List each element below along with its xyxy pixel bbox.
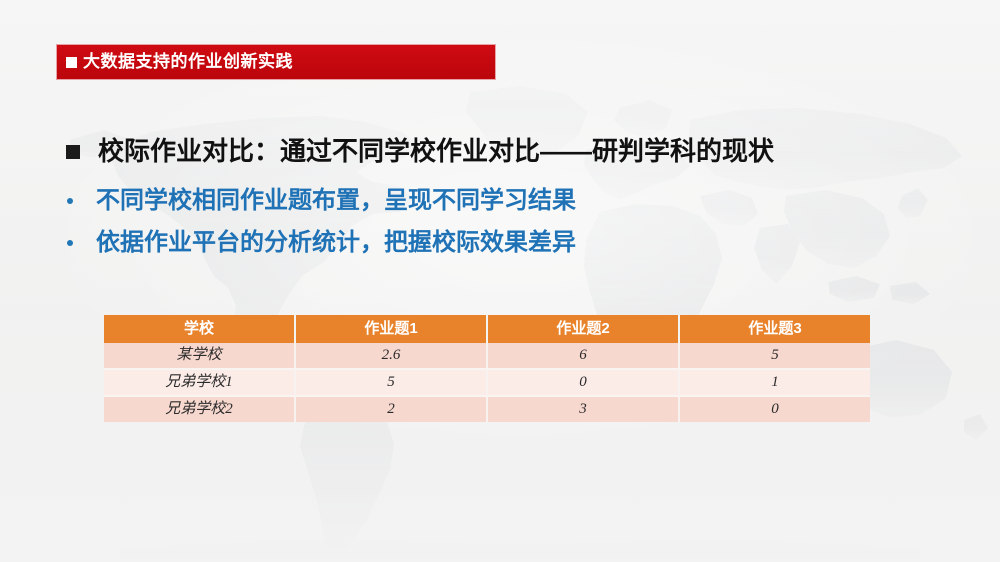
world-map-watermark	[0, 0, 1000, 562]
square-bullet-icon	[66, 145, 80, 159]
page-title-label: 校际作业对比：通过不同学校作业对比——研判学科的现状	[98, 136, 774, 167]
table-cell-task-3: 5	[679, 343, 870, 369]
table-column-header-task-2: 作业题2	[487, 315, 679, 343]
comparison-table: 学校 作业题1 作业题2 作业题3 某学校 2.6 6 5 兄弟学校1 5 0	[104, 315, 870, 422]
table-cell-school: 某学校	[104, 343, 295, 369]
square-bullet-icon	[66, 57, 77, 68]
table-column-header-task-3: 作业题3	[679, 315, 870, 343]
table-cell-task-1: 2.6	[295, 343, 487, 369]
list-item-label: 依据作业平台的分析统计，把握校际效果差异	[96, 228, 576, 258]
table-cell-task-2: 3	[487, 396, 679, 422]
table-row: 兄弟学校2 2 3 0	[104, 396, 870, 422]
table-row: 兄弟学校1 5 0 1	[104, 369, 870, 396]
table-column-header-school: 学校	[104, 315, 295, 343]
dot-bullet-icon	[67, 240, 73, 246]
section-banner: 大数据支持的作业创新实践	[57, 45, 495, 79]
table-cell-task-2: 0	[487, 369, 679, 396]
table-cell-task-3: 0	[679, 396, 870, 422]
section-banner-label: 大数据支持的作业创新实践	[83, 53, 293, 71]
slide-canvas: 大数据支持的作业创新实践 校际作业对比：通过不同学校作业对比——研判学科的现状 …	[0, 0, 1000, 562]
list-item-label: 不同学校相同作业题布置，呈现不同学习结果	[96, 186, 576, 216]
list-item: 依据作业平台的分析统计，把握校际效果差异	[64, 228, 576, 258]
table-column-header-task-1: 作业题1	[295, 315, 487, 343]
table-cell-task-3: 1	[679, 369, 870, 396]
list-item: 不同学校相同作业题布置，呈现不同学习结果	[64, 186, 576, 216]
table-row: 某学校 2.6 6 5	[104, 343, 870, 369]
table-cell-task-1: 2	[295, 396, 487, 422]
table-cell-task-2: 6	[487, 343, 679, 369]
table-cell-task-1: 5	[295, 369, 487, 396]
dot-bullet-icon	[67, 198, 73, 204]
table-header-row: 学校 作业题1 作业题2 作业题3	[104, 315, 870, 343]
table-cell-school: 兄弟学校1	[104, 369, 295, 396]
table-cell-school: 兄弟学校2	[104, 396, 295, 422]
page-title: 校际作业对比：通过不同学校作业对比——研判学科的现状	[66, 136, 774, 167]
